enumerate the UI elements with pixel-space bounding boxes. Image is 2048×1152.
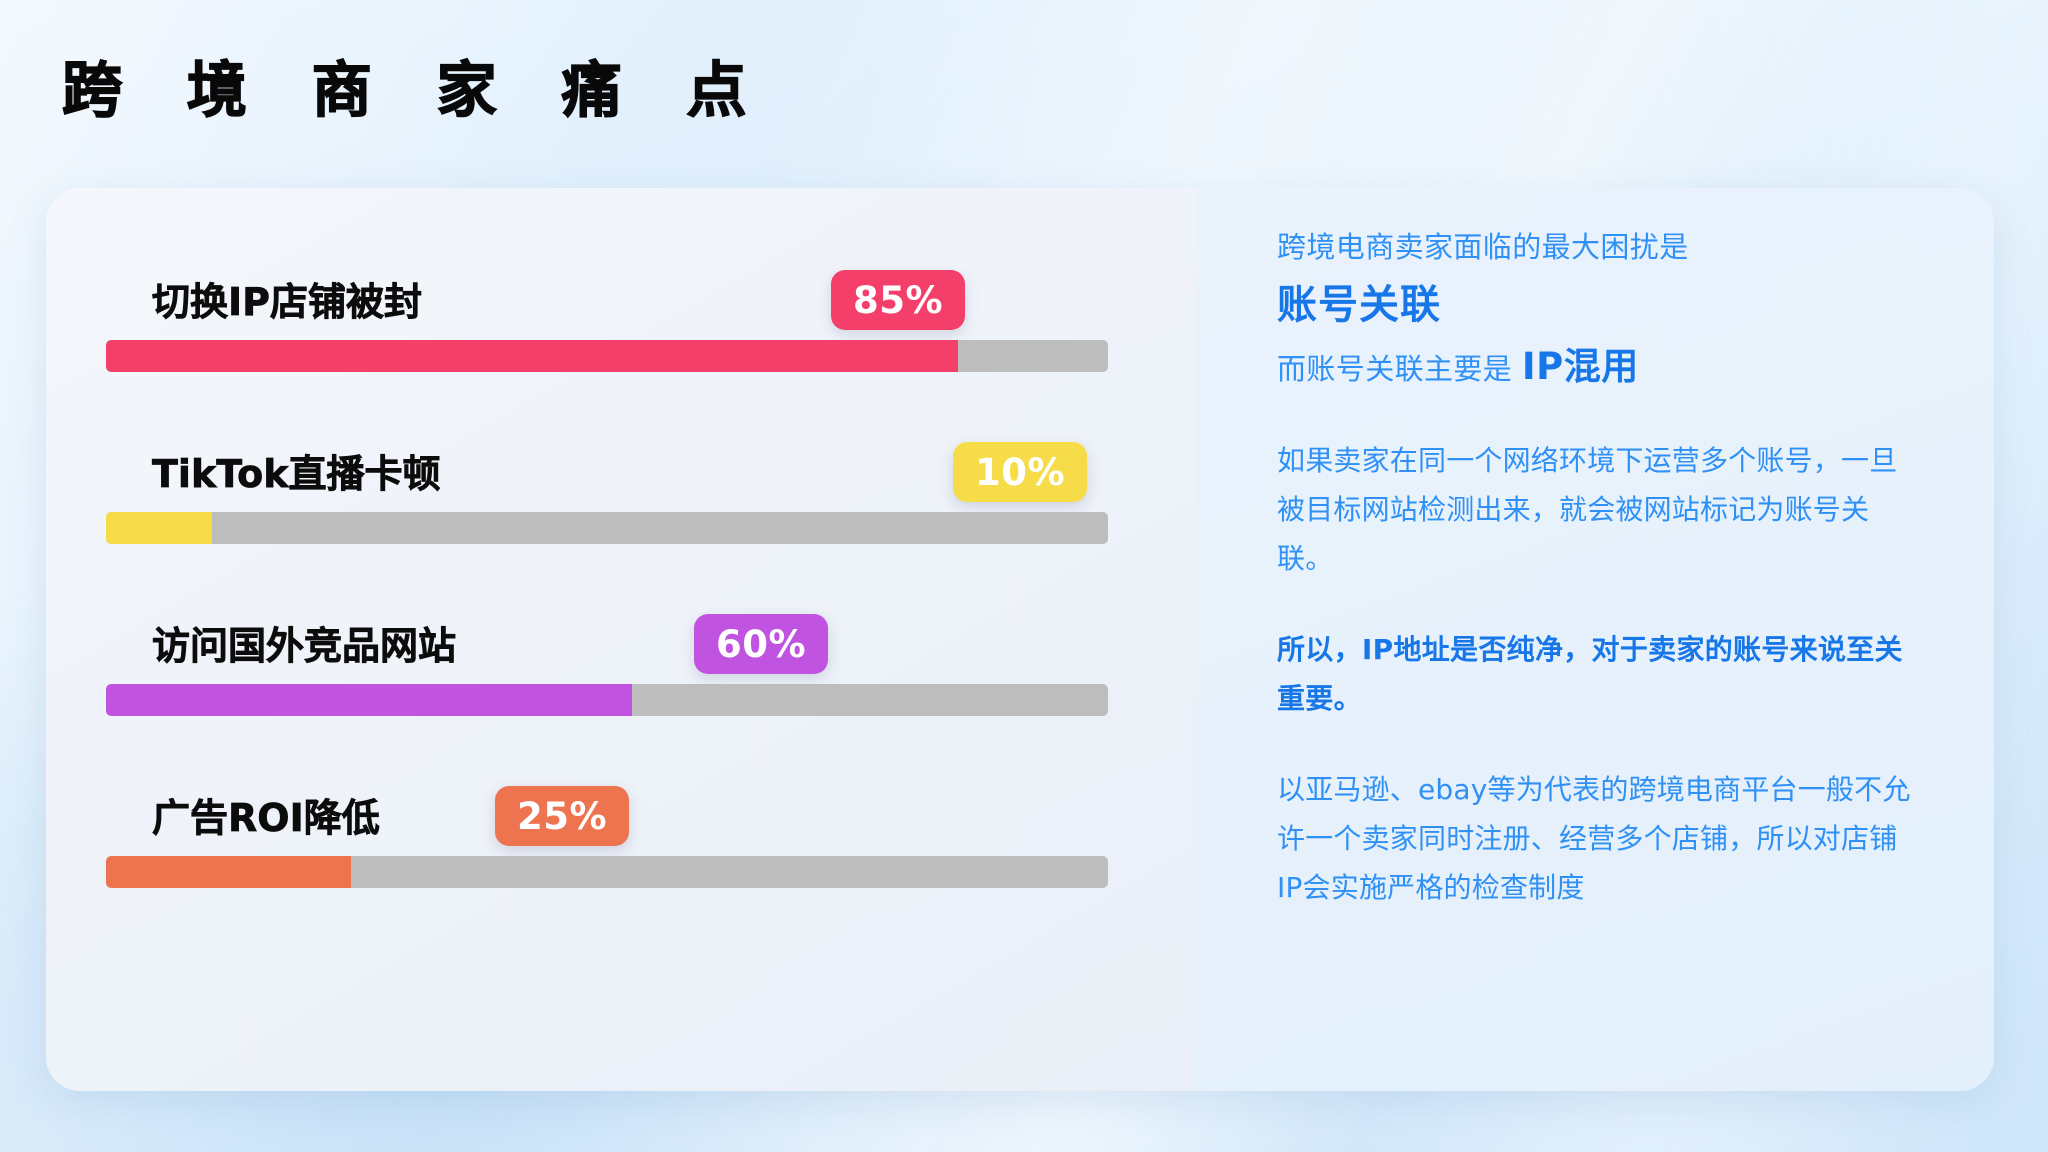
bar-fill <box>106 684 632 716</box>
bar-header: 切换IP店铺被封 85% <box>106 250 1128 324</box>
bar-chart-item: TikTok直播卡顿 10% <box>106 422 1128 544</box>
bar-label: 广告ROI降低 <box>152 796 380 840</box>
chart-panel: 切换IP店铺被封 85% TikTok直播卡顿 10% <box>46 188 1196 1091</box>
bar-chart-item: 切换IP店铺被封 85% <box>106 250 1128 372</box>
bar-chart-item: 访问国外竞品网站 60% <box>106 594 1128 716</box>
description-panel: 跨境电商卖家面临的最大困扰是 账号关联 而账号关联主要是 IP混用 如果卖家在同… <box>1196 188 1994 1091</box>
bar-chart: 切换IP店铺被封 85% TikTok直播卡顿 10% <box>106 250 1128 888</box>
bar-fill <box>106 512 212 544</box>
description-paragraph-3: 以亚马逊、ebay等为代表的跨境电商平台一般不允许一个卖家同时注册、经营多个店铺… <box>1277 765 1917 912</box>
bar-label: 切换IP店铺被封 <box>152 280 422 324</box>
description-paragraph-1: 如果卖家在同一个网络环境下运营多个账号，一旦被目标网站检测出来，就会被网站标记为… <box>1277 436 1917 583</box>
bar-value-badge: 25% <box>495 786 629 846</box>
bar-fill <box>106 340 958 372</box>
bar-label: TikTok直播卡顿 <box>152 452 440 496</box>
bar-track <box>106 856 1108 888</box>
description-paragraph-2: 所以，IP地址是否纯净，对于卖家的账号来说至关重要。 <box>1277 625 1917 723</box>
bar-label: 访问国外竞品网站 <box>152 624 456 668</box>
bar-header: 广告ROI降低 25% <box>106 766 1128 840</box>
description-subline-accent: IP混用 <box>1522 345 1639 388</box>
bar-track <box>106 512 1108 544</box>
description-text: 跨境电商卖家面临的最大困扰是 账号关联 而账号关联主要是 IP混用 如果卖家在同… <box>1277 224 1917 912</box>
bar-track <box>106 340 1108 372</box>
content-card: 切换IP店铺被封 85% TikTok直播卡顿 10% <box>46 188 1994 1091</box>
description-subline: 而账号关联主要是 IP混用 <box>1277 342 1917 394</box>
bar-header: 访问国外竞品网站 60% <box>106 594 1128 668</box>
bar-value-badge: 10% <box>953 442 1087 502</box>
description-subline-prefix: 而账号关联主要是 <box>1277 352 1522 386</box>
bar-value-badge: 85% <box>831 270 965 330</box>
description-lead: 跨境电商卖家面临的最大困扰是 <box>1277 224 1917 270</box>
bar-track <box>106 684 1108 716</box>
description-hero: 账号关联 <box>1277 274 1917 336</box>
page-title: 跨 境 商 家 痛 点 <box>62 54 768 128</box>
bar-fill <box>106 856 351 888</box>
bar-chart-item: 广告ROI降低 25% <box>106 766 1128 888</box>
slide-canvas: 跨 境 商 家 痛 点 切换IP店铺被封 85% TikTok直播卡顿 10 <box>0 0 2048 1152</box>
bar-header: TikTok直播卡顿 10% <box>106 422 1128 496</box>
bar-value-badge: 60% <box>694 614 828 674</box>
